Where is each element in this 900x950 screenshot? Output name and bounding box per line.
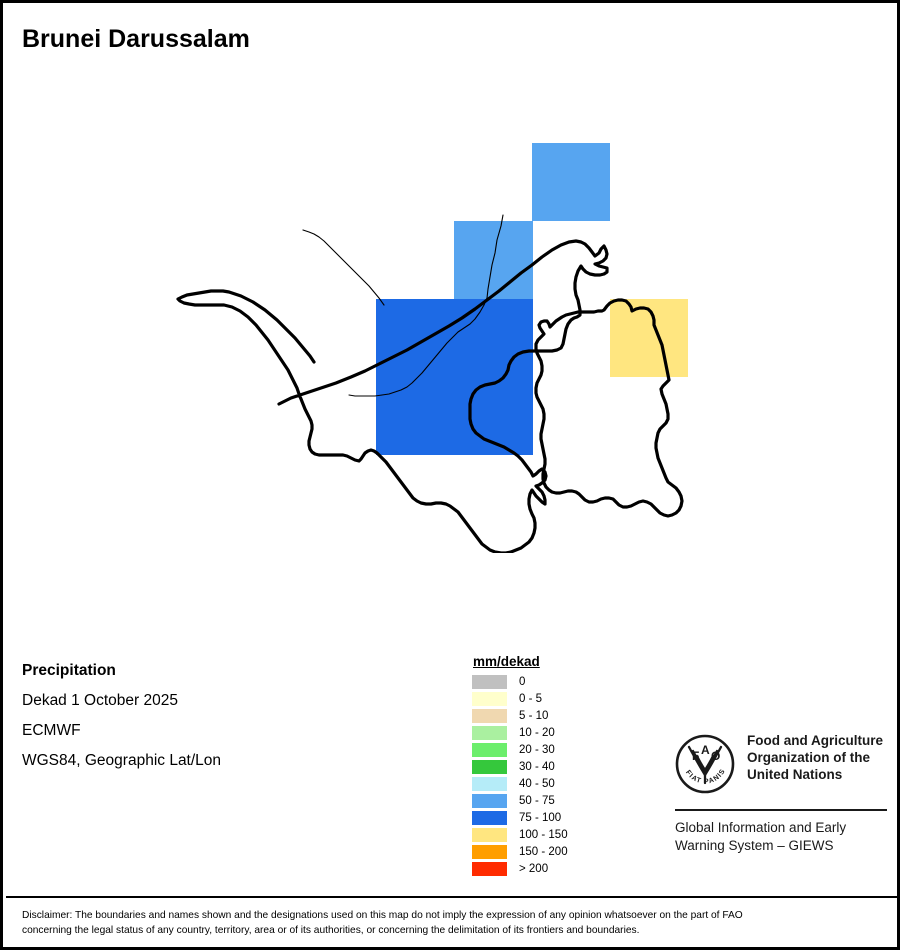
legend-label: 100 - 150 (519, 829, 568, 841)
legend-title: mm/dekad (473, 654, 568, 669)
legend-label: 40 - 50 (519, 778, 555, 790)
legend-label: 150 - 200 (519, 846, 568, 858)
legend-swatch (472, 862, 507, 876)
legend-row: 100 - 150 (472, 826, 568, 843)
legend-label: > 200 (519, 863, 548, 875)
fao-name-line-1: Food and Agriculture (747, 732, 883, 749)
metadata-source: ECMWF (22, 716, 352, 746)
legend-swatch (472, 794, 507, 808)
svg-text:A: A (701, 743, 710, 757)
legend-row: 150 - 200 (472, 843, 568, 860)
legend-items: 00 - 55 - 1010 - 2020 - 3030 - 4040 - 50… (472, 673, 568, 877)
legend-row: 5 - 10 (472, 707, 568, 724)
legend-row: 0 (472, 673, 568, 690)
legend-label: 0 - 5 (519, 693, 542, 705)
map-metadata: Precipitation Dekad 1 October 2025 ECMWF… (22, 656, 352, 776)
fao-wheat-logo-icon: F A O FIAT PANIS (675, 734, 735, 799)
svg-text:O: O (711, 749, 720, 763)
legend-swatch (472, 828, 507, 842)
metadata-period: Dekad 1 October 2025 (22, 686, 352, 716)
legend-swatch (472, 726, 507, 740)
legend-row: 30 - 40 (472, 758, 568, 775)
legend-label: 50 - 75 (519, 795, 555, 807)
legend-label: 0 (519, 676, 525, 688)
giews-line-1: Global Information and Early (675, 819, 887, 837)
legend-row: 0 - 5 (472, 690, 568, 707)
disclaimer-line-2: concerning the legal status of any count… (22, 924, 886, 939)
legend-swatch (472, 743, 507, 757)
metadata-projection: WGS84, Geographic Lat/Lon (22, 746, 352, 776)
disclaimer-line-1: Disclaimer: The boundaries and names sho… (22, 909, 886, 924)
map-canvas[interactable] (3, 93, 897, 553)
fao-branding: F A O FIAT PANIS Food and Agriculture O (675, 732, 887, 855)
legend-swatch (472, 692, 507, 706)
legend-row: 50 - 75 (472, 792, 568, 809)
legend-label: 75 - 100 (519, 812, 561, 824)
map-legend: mm/dekad 00 - 55 - 1010 - 2020 - 3030 - … (472, 654, 568, 877)
metadata-variable: Precipitation (22, 656, 352, 686)
page-title: Brunei Darussalam (22, 25, 250, 54)
disclaimer-divider (6, 896, 900, 898)
fao-divider (675, 809, 887, 811)
map-svg (3, 93, 897, 553)
legend-swatch (472, 777, 507, 791)
fao-organization-name: Food and Agriculture Organization of the… (747, 732, 883, 783)
raster-cell-50-75-north (532, 143, 610, 221)
legend-label: 30 - 40 (519, 761, 555, 773)
map-page: Brunei Darussalam (0, 0, 900, 950)
giews-name: Global Information and Early Warning Sys… (675, 819, 887, 855)
disclaimer: Disclaimer: The boundaries and names sho… (22, 909, 886, 938)
legend-swatch (472, 845, 507, 859)
legend-row: 40 - 50 (472, 775, 568, 792)
legend-swatch (472, 675, 507, 689)
legend-row: 75 - 100 (472, 809, 568, 826)
legend-swatch (472, 811, 507, 825)
legend-label: 20 - 30 (519, 744, 555, 756)
legend-label: 10 - 20 (519, 727, 555, 739)
legend-row: 20 - 30 (472, 741, 568, 758)
legend-swatch (472, 709, 507, 723)
legend-row: > 200 (472, 860, 568, 877)
giews-line-2: Warning System – GIEWS (675, 837, 887, 855)
fao-name-line-2: Organization of the (747, 749, 883, 766)
legend-row: 10 - 20 (472, 724, 568, 741)
svg-text:F: F (692, 749, 699, 763)
precipitation-raster-layer (376, 143, 688, 455)
legend-label: 5 - 10 (519, 710, 548, 722)
legend-swatch (472, 760, 507, 774)
fao-name-line-3: United Nations (747, 766, 883, 783)
